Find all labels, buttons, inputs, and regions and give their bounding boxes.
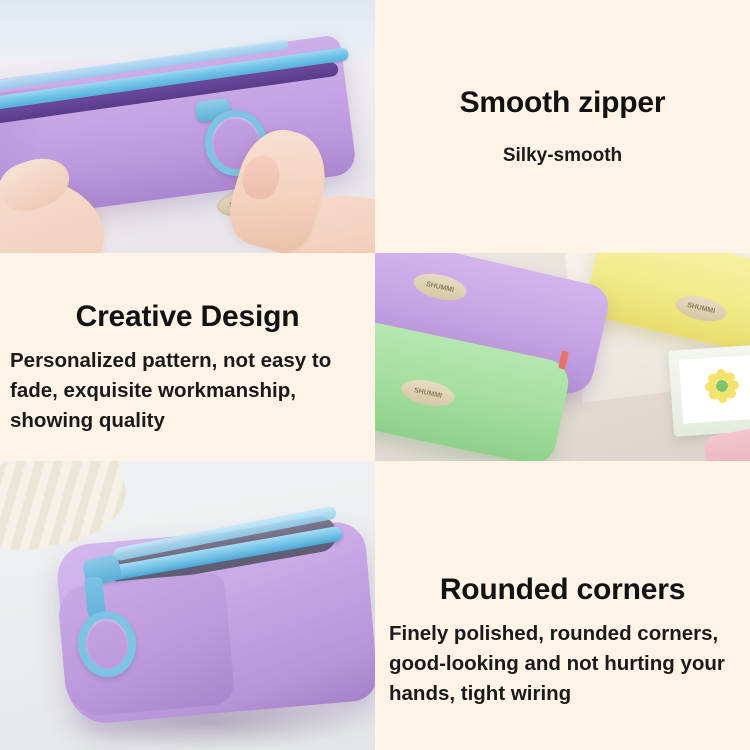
design-text-panel: Creative Design Personalized pattern, no…: [0, 253, 375, 461]
corners-text-panel: Rounded corners Finely polished, rounded…: [375, 461, 750, 750]
design-heading: Creative Design: [0, 300, 375, 334]
corners-heading: Rounded corners: [375, 573, 750, 607]
corners-photo: [0, 461, 375, 750]
flower-icon: [704, 368, 740, 404]
corners-subtext: Finely polished, rounded corners, good-l…: [389, 619, 739, 709]
zipper-subtext: Silky-smooth: [375, 144, 750, 168]
design-photo: SHUMMI SHUMMI SHUMMI: [375, 253, 750, 461]
design-photo-panel: SHUMMI SHUMMI SHUMMI: [375, 253, 750, 461]
zipper-heading: Smooth zipper: [375, 86, 750, 120]
corners-photo-panel: [0, 461, 375, 750]
zipper-photo-panel: SHUMMI: [0, 0, 375, 253]
design-subtext: Personalized pattern, not easy to fade, …: [10, 346, 368, 436]
zipper-text-panel: Smooth zipper Silky-smooth: [375, 0, 750, 253]
product-feature-collage: SHUMMI Smooth zipper Silky-smooth Creati…: [0, 0, 750, 750]
zipper-photo: SHUMMI: [0, 0, 375, 253]
